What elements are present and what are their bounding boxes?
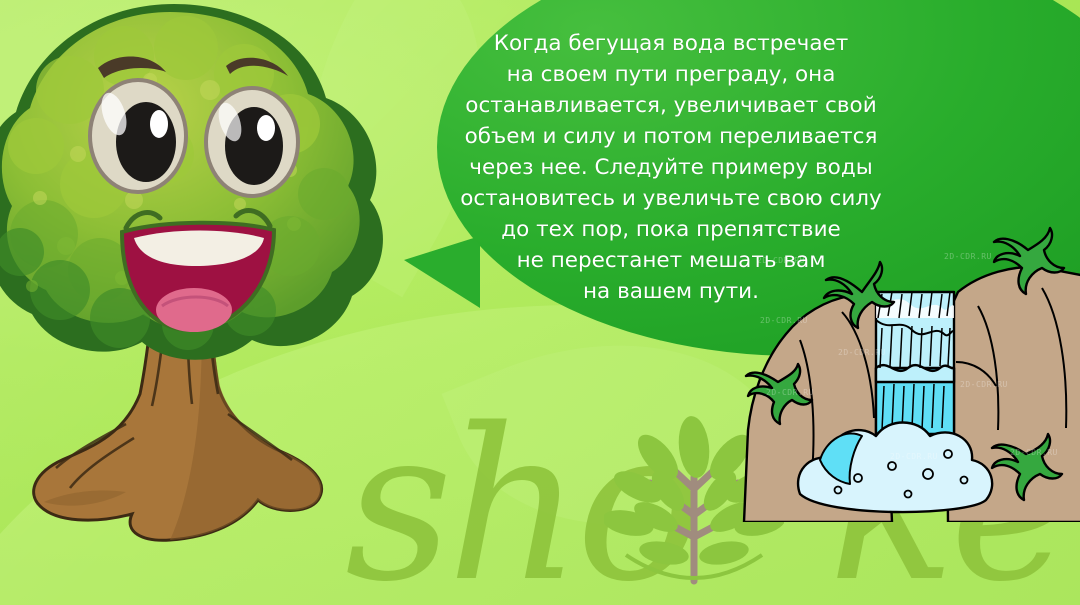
bubble-line: объем и силу и потом переливается: [430, 121, 912, 152]
eye-right-icon: [206, 88, 298, 196]
waterfall-illustration: [742, 222, 1080, 522]
smiling-tree-character: [0, 0, 394, 605]
poster-canvas: shoken: [0, 0, 1080, 605]
bubble-line: остановитесь и увеличьте свою силу: [430, 183, 912, 214]
bubble-line: на своем пути преграду, она: [430, 59, 912, 90]
bubble-line: останавливается, увеличивает свой: [430, 90, 912, 121]
eye-left-icon: [90, 80, 186, 192]
bubble-line: через нее. Следуйте примеру воды: [430, 152, 912, 183]
bubble-line: Когда бегущая вода встречает: [430, 28, 912, 59]
